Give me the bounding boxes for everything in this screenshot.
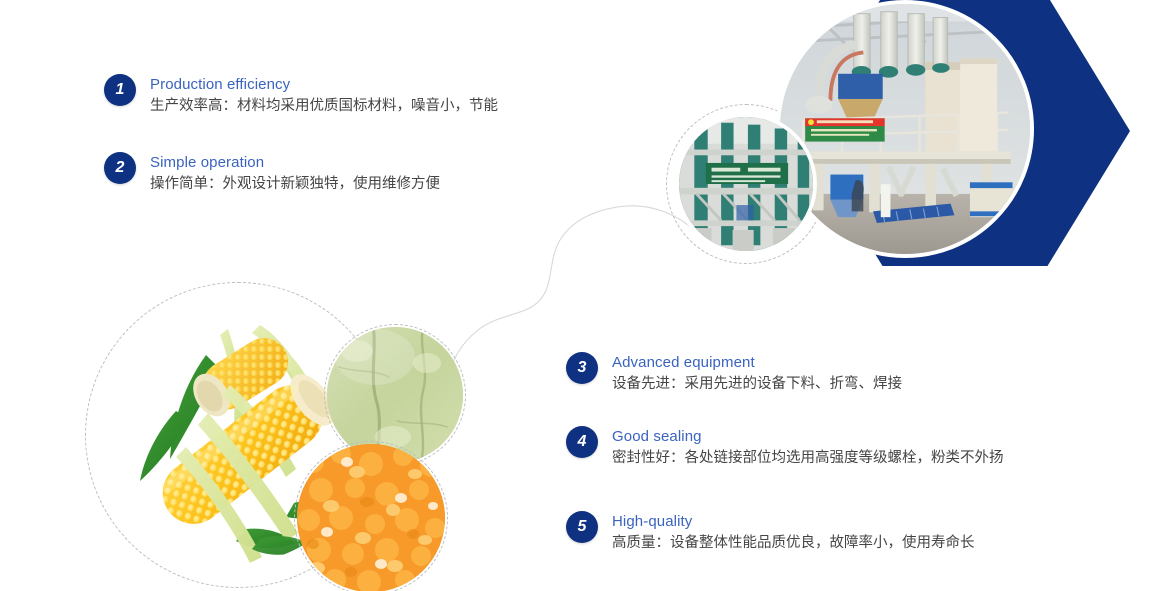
green-machinery-photo <box>676 114 816 254</box>
feature-title-3: Advanced equipment <box>612 353 902 372</box>
feature-desc-4: 密封性好：各处链接部位均选用高强度等级螺栓，粉类不外扬 <box>612 447 1004 469</box>
feature-desc-1: 生产效率高：材料均采用优质国标材料，噪音小，节能 <box>150 95 498 117</box>
feature-text-1: Production efficiency 生产效率高：材料均采用优质国标材料，… <box>150 74 498 117</box>
feature-item-2: 2 Simple operation 操作简单：外观设计新颖独特，使用维修方便 <box>104 152 440 195</box>
feature-desc-5: 高质量：设备整体性能品质优良，故障率小，使用寿命长 <box>612 532 975 554</box>
feature-title-5: High-quality <box>612 512 975 531</box>
feature-text-5: High-quality 高质量：设备整体性能品质优良，故障率小，使用寿命长 <box>612 511 975 554</box>
feature-title-1: Production efficiency <box>150 75 498 94</box>
feature-item-4: 4 Good sealing 密封性好：各处链接部位均选用高强度等级螺栓，粉类不… <box>566 426 1004 469</box>
feature-badge-4: 4 <box>566 426 598 458</box>
feature-item-5: 5 High-quality 高质量：设备整体性能品质优良，故障率小，使用寿命长 <box>566 511 975 554</box>
feature-badge-1: 1 <box>104 74 136 106</box>
feature-badge-5: 5 <box>566 511 598 543</box>
corn-flour-photo <box>327 327 463 463</box>
feature-highlight-banner: 1 Production efficiency 生产效率高：材料均采用优质国标材… <box>0 0 1154 591</box>
feature-badge-2: 2 <box>104 152 136 184</box>
feature-item-1: 1 Production efficiency 生产效率高：材料均采用优质国标材… <box>104 74 498 117</box>
feature-title-4: Good sealing <box>612 427 1004 446</box>
feature-title-2: Simple operation <box>150 153 440 172</box>
feature-text-2: Simple operation 操作简单：外观设计新颖独特，使用维修方便 <box>150 152 440 195</box>
feature-desc-3: 设备先进：采用先进的设备下料、折弯、焊接 <box>612 373 902 395</box>
corn-grits-photo <box>297 444 445 591</box>
hexagon-photo-group <box>670 0 1154 281</box>
corn-photo-group <box>85 282 485 591</box>
feature-badge-3: 3 <box>566 352 598 384</box>
feature-text-3: Advanced equipment 设备先进：采用先进的设备下料、折弯、焊接 <box>612 352 902 395</box>
feature-item-3: 3 Advanced equipment 设备先进：采用先进的设备下料、折弯、焊… <box>566 352 902 395</box>
feature-text-4: Good sealing 密封性好：各处链接部位均选用高强度等级螺栓，粉类不外扬 <box>612 426 1004 469</box>
milling-plant-photo <box>776 0 1034 258</box>
feature-desc-2: 操作简单：外观设计新颖独特，使用维修方便 <box>150 173 440 195</box>
